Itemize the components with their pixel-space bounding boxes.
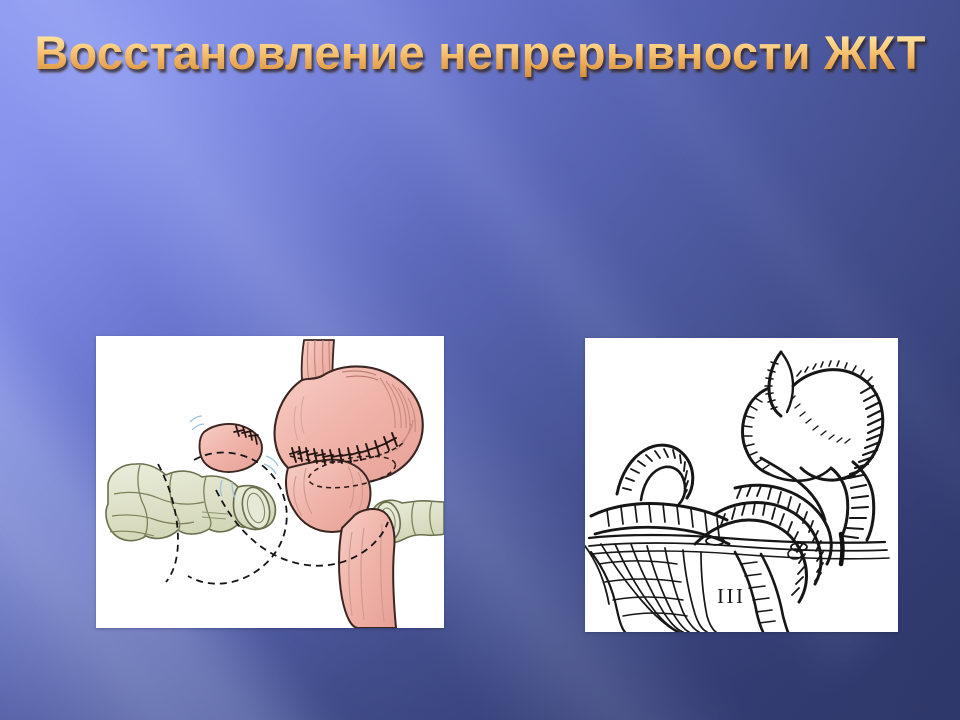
figure-engraving-gastrojejunostomy: III <box>585 338 898 632</box>
slide-title: Восстановление непрерывности ЖКТ <box>0 28 960 77</box>
presentation-slide: Восстановление непрерывности ЖКТ <box>0 0 960 720</box>
figure-colored-gi-reconstruction <box>96 336 444 628</box>
figure-caption: III <box>717 584 745 608</box>
